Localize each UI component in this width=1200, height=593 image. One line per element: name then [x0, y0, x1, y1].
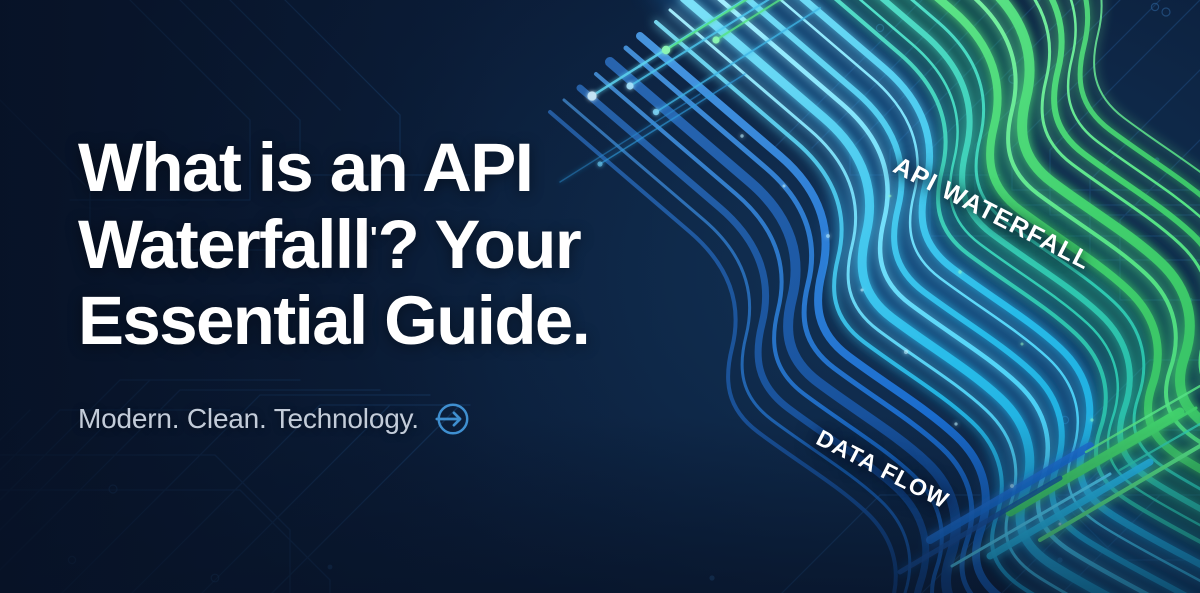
headline-line-2-main: Waterfalll	[78, 206, 370, 283]
arrow-right-circle-icon[interactable]	[433, 400, 471, 438]
subtitle-text: Modern. Clean. Technology.	[78, 403, 419, 435]
label-api-waterfall: API WATERFALL	[888, 152, 1095, 277]
hero-banner: What is an API Waterfalll'? Your Essenti…	[0, 0, 1200, 593]
trademark-mark: '	[370, 219, 378, 255]
page-title: What is an API Waterfalll'? Your Essenti…	[78, 130, 678, 360]
headline-line-2-tail: ? Your	[378, 206, 581, 283]
subtitle-row: Modern. Clean. Technology.	[78, 400, 678, 438]
label-data-flow: DATA FLOW	[812, 424, 954, 514]
headline-line-2: Waterfalll'? Your	[78, 207, 678, 284]
headline-line-3: Essential Guide.	[78, 283, 678, 360]
hero-text-block: What is an API Waterfalll'? Your Essenti…	[78, 130, 678, 438]
headline-line-1: What is an API	[78, 130, 678, 207]
